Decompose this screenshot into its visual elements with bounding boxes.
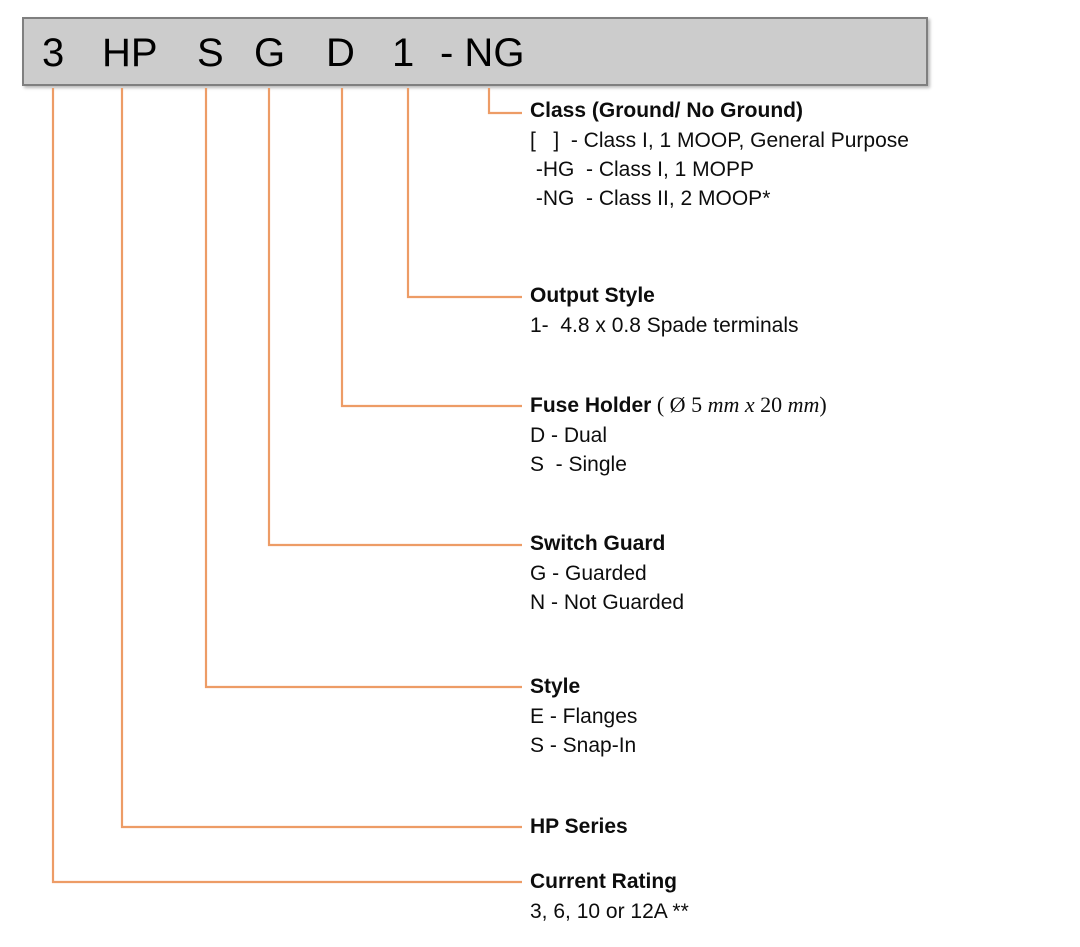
callout-option: G - Guarded [530, 559, 684, 588]
callout-option: S - Snap-In [530, 731, 637, 760]
callout-class-title: Class (Ground/ No Ground) [530, 98, 909, 124]
callout-hp-series-title: HP Series [530, 814, 628, 840]
callout-style-options: E - Flanges S - Snap-In [530, 702, 637, 760]
part-number-segment-switch-guard: G [254, 31, 285, 75]
callout-option: E - Flanges [530, 702, 637, 731]
part-number-segment-class: - NG [440, 31, 524, 75]
callout-option: -HG - Class I, 1 MOPP [530, 155, 909, 184]
callout-switch-guard-options: G - Guarded N - Not Guarded [530, 559, 684, 617]
callout-option: S - Single [530, 450, 827, 479]
part-number-segment-output-style: 1 [392, 31, 414, 75]
leader-line-current-rating [53, 88, 522, 882]
callout-switch-guard-title: Switch Guard [530, 531, 684, 557]
callout-output-style-options: 1- 4.8 x 0.8 Spade terminals [530, 311, 798, 340]
callout-output-style-title: Output Style [530, 283, 798, 309]
callout-style-title: Style [530, 674, 637, 700]
leader-line-output-style [408, 88, 522, 297]
leader-line-class [489, 88, 522, 113]
part-number-segment-fuse-holder: D [326, 31, 355, 75]
callout-option: N - Not Guarded [530, 588, 684, 617]
callout-current-rating: Current Rating 3, 6, 10 or 12A ** [530, 869, 689, 926]
callout-option: -NG - Class II, 2 MOOP* [530, 184, 909, 213]
callout-option: [ ] - Class I, 1 MOOP, General Purpose [530, 126, 909, 155]
part-number-segment-current-rating: 3 [42, 31, 64, 75]
callout-fuse-holder-title-text: Fuse Holder [530, 394, 651, 417]
callout-output-style: Output Style 1- 4.8 x 0.8 Spade terminal… [530, 283, 798, 340]
callout-hp-series: HP Series [530, 814, 628, 840]
callout-style: Style E - Flanges S - Snap-In [530, 674, 637, 760]
part-number-breakdown-diagram: 3 HP S G D 1 - NG Class (Ground/ No Grou… [0, 0, 1080, 947]
leader-line-switch-guard [269, 88, 522, 545]
leader-line-hp-series [122, 88, 522, 827]
leader-line-style [206, 88, 522, 687]
leader-line-fuse-holder [342, 88, 522, 406]
callout-class-options: [ ] - Class I, 1 MOOP, General Purpose -… [530, 126, 909, 213]
fuse-holder-dimension: ( Ø 5 mm x 20 mm) [651, 392, 826, 417]
callout-option: D - Dual [530, 421, 827, 450]
callout-fuse-holder-title: Fuse Holder ( Ø 5 mm x 20 mm) [530, 392, 827, 419]
part-number-segment-hp-series: HP [102, 31, 158, 75]
callout-switch-guard: Switch Guard G - Guarded N - Not Guarded [530, 531, 684, 617]
part-number-box: 3 HP S G D 1 - NG [22, 17, 928, 86]
callout-fuse-holder: Fuse Holder ( Ø 5 mm x 20 mm) D - Dual S… [530, 392, 827, 479]
callout-option: 1- 4.8 x 0.8 Spade terminals [530, 311, 798, 340]
part-number-segment-style: S [197, 31, 224, 75]
callout-class: Class (Ground/ No Ground) [ ] - Class I,… [530, 98, 909, 213]
callout-option: 3, 6, 10 or 12A ** [530, 897, 689, 926]
callout-current-rating-title: Current Rating [530, 869, 689, 895]
callout-fuse-holder-options: D - Dual S - Single [530, 421, 827, 479]
callout-current-rating-options: 3, 6, 10 or 12A ** [530, 897, 689, 926]
